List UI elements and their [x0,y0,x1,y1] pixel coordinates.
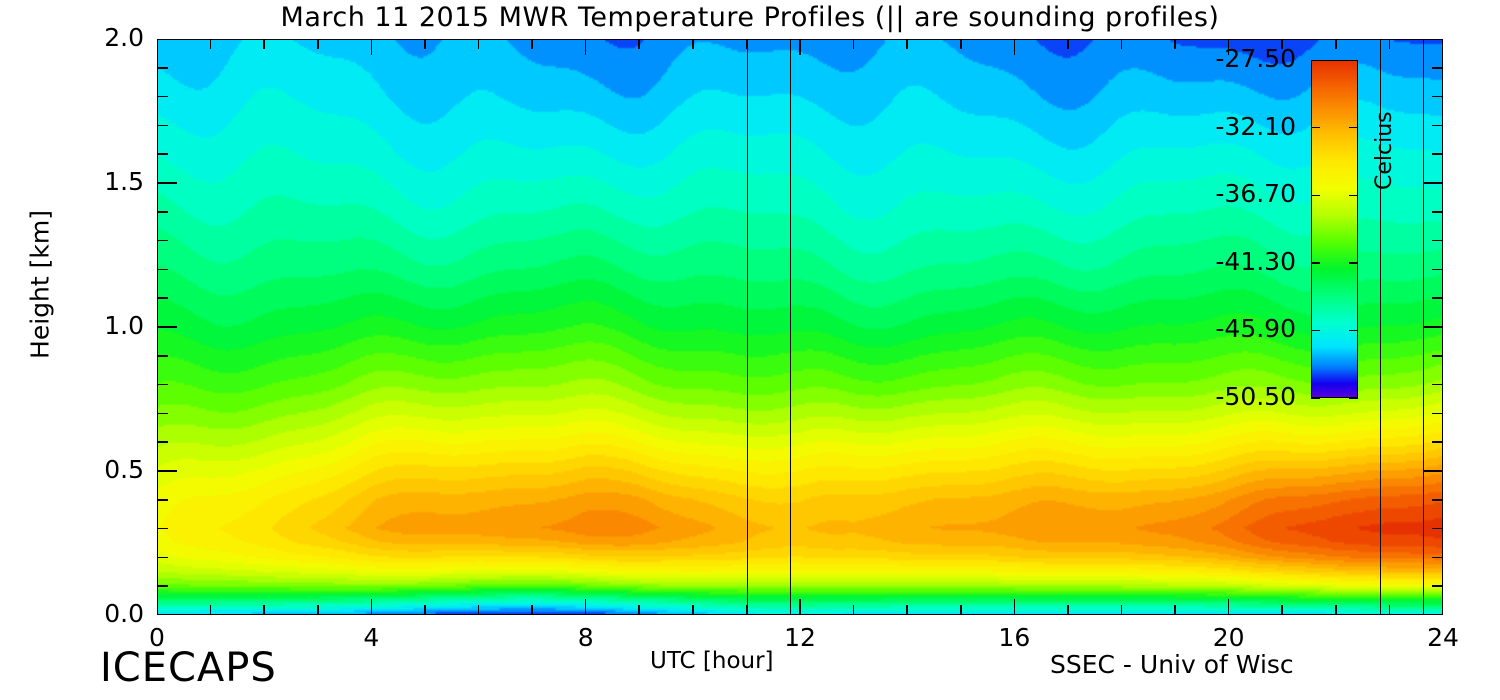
y-tick-right-18 [1432,96,1443,98]
x-tick-top-23 [1389,39,1391,49]
colorbar-tick-left-1 [1311,127,1320,129]
y-tick-right-9 [1432,355,1443,357]
y-tick-left-10 [157,326,177,328]
x-tick-top-12 [799,39,801,55]
x-tick-top-14 [906,39,908,49]
colorbar-tick-left-3 [1311,262,1320,264]
x-tick-bottom-22 [1335,605,1337,615]
colorbar-tick-right-5 [1349,397,1358,399]
y-tick-right-7 [1432,413,1443,415]
x-tick-bottom-10 [692,605,694,615]
y-tick-left-1 [157,585,168,587]
colorbar-label-3: -41.30 [1136,247,1296,276]
x-tick-bottom-23 [1389,605,1391,615]
colorbar-label-0: -27.50 [1136,44,1296,73]
x-tick-bottom-19 [1174,605,1176,615]
y-tick-left-12 [157,269,168,271]
x-tick-top-9 [638,39,640,49]
x-tick-bottom-16 [1014,599,1016,615]
colorbar-label-2: -36.70 [1136,179,1296,208]
y-tick-left-15 [157,182,177,184]
y-tick-left-9 [157,355,168,357]
y-tick-right-15 [1423,182,1443,184]
y-tick-label-1.5: 1.5 [49,167,144,196]
x-tick-top-22 [1335,39,1337,49]
x-tick-top-17 [1067,39,1069,49]
x-tick-bottom-14 [906,605,908,615]
y-tick-right-8 [1432,384,1443,386]
x-tick-top-3 [317,39,319,49]
y-tick-left-11 [157,297,168,299]
y-tick-right-3 [1432,528,1443,530]
y-tick-left-16 [157,153,168,155]
y-tick-left-8 [157,384,168,386]
x-tick-top-15 [960,39,962,49]
x-tick-top-7 [531,39,533,49]
x-tick-top-11 [746,39,748,49]
sounding-line-0 [747,40,748,614]
x-tick-bottom-9 [638,605,640,615]
colorbar-tick-left-2 [1311,195,1320,197]
x-tick-label-24: 24 [1403,623,1483,652]
y-tick-right-11 [1432,297,1443,299]
x-tick-top-16 [1014,39,1016,55]
colorbar-tick-left-5 [1311,397,1320,399]
x-tick-label-16: 16 [974,623,1054,652]
y-tick-right-13 [1432,240,1443,242]
x-tick-bottom-8 [585,599,587,615]
y-tick-label-0.0: 0.0 [49,599,144,628]
x-tick-top-2 [263,39,265,49]
y-tick-right-12 [1432,269,1443,271]
y-tick-left-3 [157,528,168,530]
x-tick-top-10 [692,39,694,49]
colorbar-tick-right-2 [1349,195,1358,197]
x-tick-bottom-11 [746,605,748,615]
y-tick-left-2 [157,557,168,559]
y-tick-label-0.5: 0.5 [49,455,144,484]
y-tick-right-17 [1432,125,1443,127]
icecaps-brand-label: ICECAPS [100,645,277,691]
x-tick-bottom-4 [371,599,373,615]
colorbar-tick-right-4 [1349,330,1358,332]
ssec-credit-label: SSEC - Univ of Wisc [1050,650,1294,679]
y-tick-right-19 [1432,67,1443,69]
y-tick-label-1.0: 1.0 [49,311,144,340]
y-tick-left-19 [157,67,168,69]
x-tick-label-8: 8 [546,623,626,652]
x-tick-bottom-15 [960,605,962,615]
y-tick-left-17 [157,125,168,127]
colorbar-tick-left-4 [1311,330,1320,332]
x-tick-top-1 [210,39,212,49]
sounding-line-1 [790,40,791,614]
colorbar-tick-right-1 [1349,127,1358,129]
x-tick-top-6 [478,39,480,49]
colorbar [1311,60,1358,398]
x-tick-bottom-21 [1281,605,1283,615]
chart-title: March 11 2015 MWR Temperature Profiles (… [0,2,1500,33]
y-tick-left-6 [157,441,168,443]
x-tick-top-4 [371,39,373,55]
x-tick-top-18 [1121,39,1123,49]
x-tick-bottom-6 [478,605,480,615]
x-axis-title: UTC [hour] [650,648,774,674]
x-tick-bottom-3 [317,605,319,615]
colorbar-body [1311,60,1358,398]
x-tick-label-20: 20 [1189,623,1269,652]
chart-page: March 11 2015 MWR Temperature Profiles (… [0,0,1500,700]
x-tick-bottom-1 [210,605,212,615]
x-tick-bottom-20 [1228,599,1230,615]
x-tick-bottom-13 [853,605,855,615]
y-tick-left-4 [157,499,168,501]
y-tick-right-4 [1432,499,1443,501]
y-tick-left-5 [157,470,177,472]
y-tick-right-10 [1423,326,1443,328]
y-tick-label-2.0: 2.0 [49,23,144,52]
y-tick-left-13 [157,240,168,242]
x-tick-bottom-17 [1067,605,1069,615]
x-tick-bottom-7 [531,605,533,615]
x-tick-top-13 [853,39,855,49]
colorbar-label-1: -32.10 [1136,112,1296,141]
x-tick-top-5 [424,39,426,49]
y-tick-right-1 [1432,585,1443,587]
y-tick-right-5 [1423,470,1443,472]
colorbar-gradient [1312,61,1357,397]
x-tick-bottom-18 [1121,605,1123,615]
y-tick-right-2 [1432,557,1443,559]
y-tick-right-6 [1432,441,1443,443]
y-tick-left-7 [157,413,168,415]
colorbar-title: Celcius [1372,111,1397,190]
colorbar-tick-right-3 [1349,262,1358,264]
colorbar-label-5: -50.50 [1136,382,1296,411]
y-tick-left-14 [157,211,168,213]
x-tick-top-8 [585,39,587,55]
x-tick-bottom-12 [799,599,801,615]
y-tick-left-18 [157,96,168,98]
y-axis-title: Height [km] [26,185,55,385]
y-tick-right-14 [1432,211,1443,213]
colorbar-label-4: -45.90 [1136,314,1296,343]
x-tick-bottom-2 [263,605,265,615]
x-tick-bottom-5 [424,605,426,615]
x-tick-label-4: 4 [331,623,411,652]
y-tick-right-16 [1432,153,1443,155]
